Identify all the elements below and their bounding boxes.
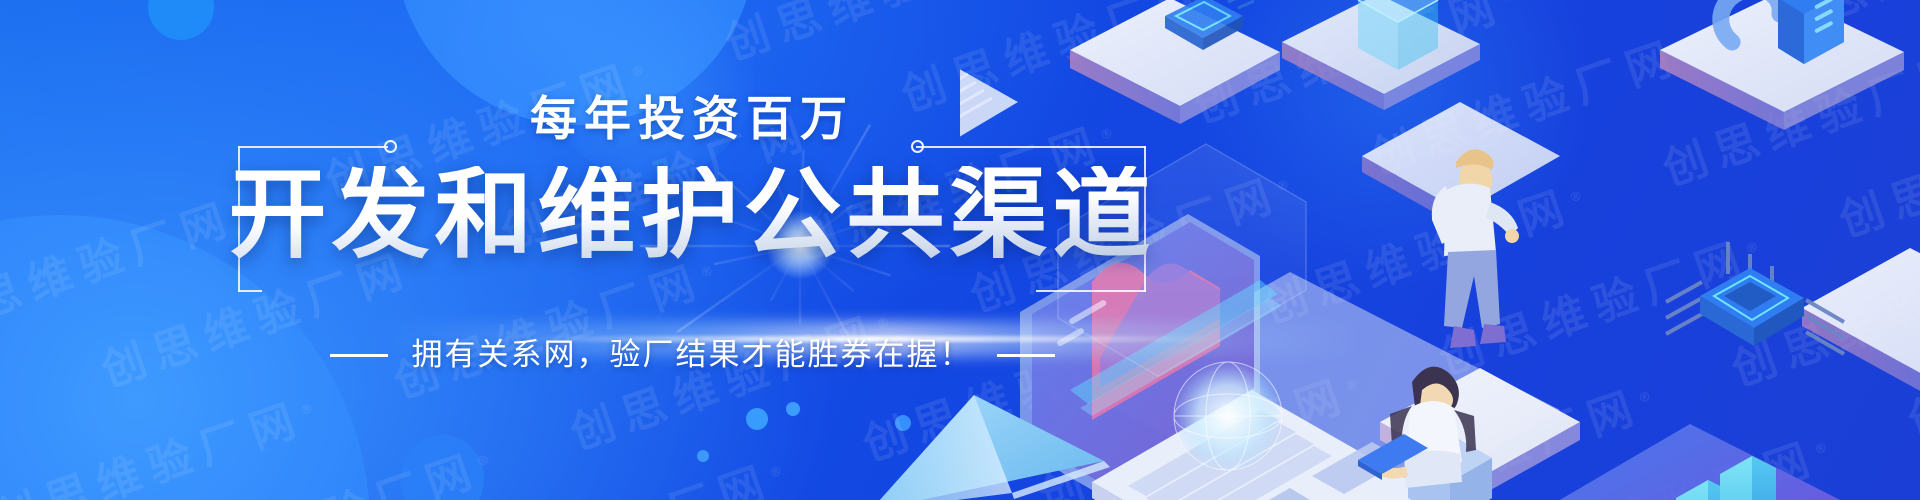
watermark-text: 创思维验厂网®	[1833, 89, 1920, 247]
microchip-icon	[1666, 242, 1844, 354]
banner-headline: 开发和维护公共渠道	[214, 166, 1170, 264]
watermark-text: 创思维验厂网®	[1188, 0, 1523, 133]
background-blob-right	[1180, 0, 1600, 300]
bracket-right-bottom-arm	[1036, 290, 1146, 292]
subline-rule-left	[330, 354, 388, 357]
watermark-text: 创思维验厂网®	[1326, 376, 1661, 500]
platform-lock	[1660, 0, 1904, 130]
watermark-text: 创思维验厂网®	[1502, 427, 1837, 500]
bracket-left-top-arm	[238, 146, 388, 148]
watermark-text: 创思维验厂网®	[1364, 27, 1699, 185]
bar-chart-tablet	[1546, 424, 1860, 500]
seated-woman-figure	[1358, 367, 1492, 500]
banner-subline-text: 拥有关系网，验厂结果才能胜券在握！	[412, 340, 973, 371]
bracket-left-bottom-arm	[238, 290, 262, 292]
bracket-right-top-arm	[916, 146, 1146, 148]
watermark-text: 创思维验厂网®	[1764, 0, 1920, 47]
platform-cube	[1282, 0, 1480, 110]
text-block: 每年投资百万 开发和维护公共渠道 拥有关系网，验厂结果才能胜券在握！	[0, 0, 1200, 500]
watermark-text: 创思维验厂网®	[1257, 176, 1592, 334]
watermark-text: 创思维验厂网®	[1657, 38, 1920, 196]
chart-bars	[1588, 456, 1776, 500]
promo-banner: 创思维验厂网®创思维验厂网®创思维验厂网®创思维验厂网®创思维验厂网®创思维验厂…	[0, 0, 1920, 500]
banner-subline-row: 拥有关系网，验厂结果才能胜券在握！	[214, 340, 1170, 371]
subline-rule-right	[997, 354, 1055, 357]
platform-man	[1362, 102, 1560, 228]
watermark-text: 创思维验厂网®	[1902, 290, 1920, 448]
watermark-text: 创思维验厂网®	[1795, 439, 1920, 500]
watermark-text: 创思维验厂网®	[1726, 238, 1920, 396]
watermark-text: 创思维验厂网®	[1433, 227, 1768, 385]
padlock-icon	[1721, 0, 1844, 64]
platform-man-lower	[1380, 368, 1580, 496]
glass-cube-icon	[1358, 0, 1438, 70]
banner-kicker: 每年投资百万	[238, 96, 1146, 143]
standing-man-figure	[1432, 149, 1519, 348]
platform-cpu-lower	[1802, 248, 1920, 392]
